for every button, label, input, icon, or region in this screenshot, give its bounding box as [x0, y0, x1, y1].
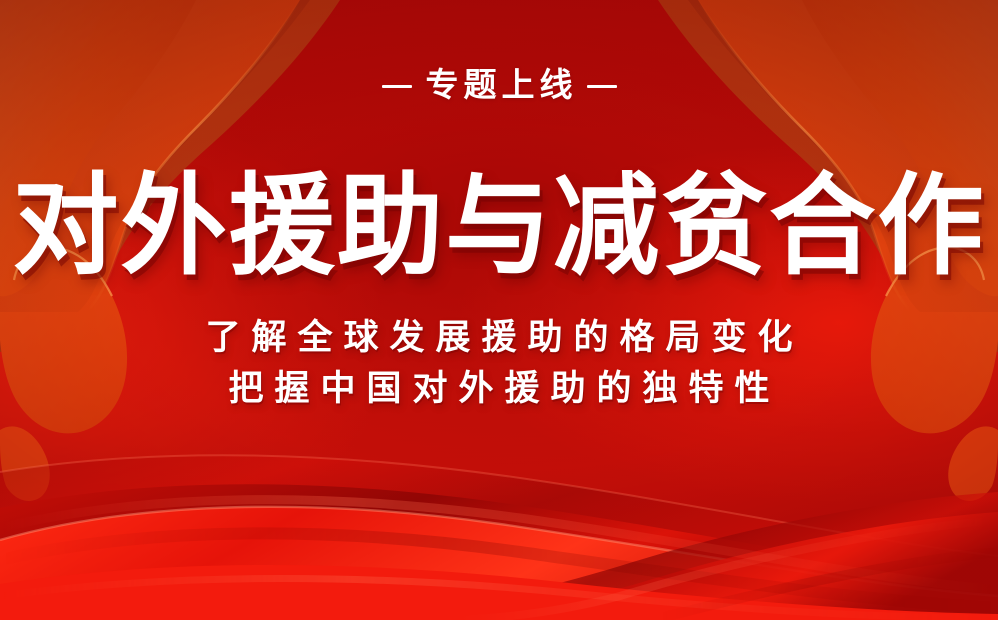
subtitle-line-2: 把握中国对外援助的独特性: [217, 372, 780, 407]
eyebrow-text: 专题上线: [421, 70, 578, 103]
eyebrow-label: 专题上线: [382, 70, 617, 103]
subtitle-block: 了解全球发展援助的格局变化 把握中国对外援助的独特性: [194, 321, 803, 407]
eyebrow-rule-right: [587, 85, 617, 88]
subtitle-line-1: 了解全球发展援助的格局变化: [194, 321, 803, 356]
eyebrow-rule-left: [382, 85, 412, 88]
page-title: 对外援助与减贫合作: [12, 170, 985, 282]
promo-banner: 专题上线 对外援助与减贫合作 了解全球发展援助的格局变化 把握中国对外援助的独特…: [0, 0, 998, 620]
banner-content: 专题上线 对外援助与减贫合作 了解全球发展援助的格局变化 把握中国对外援助的独特…: [0, 0, 998, 620]
